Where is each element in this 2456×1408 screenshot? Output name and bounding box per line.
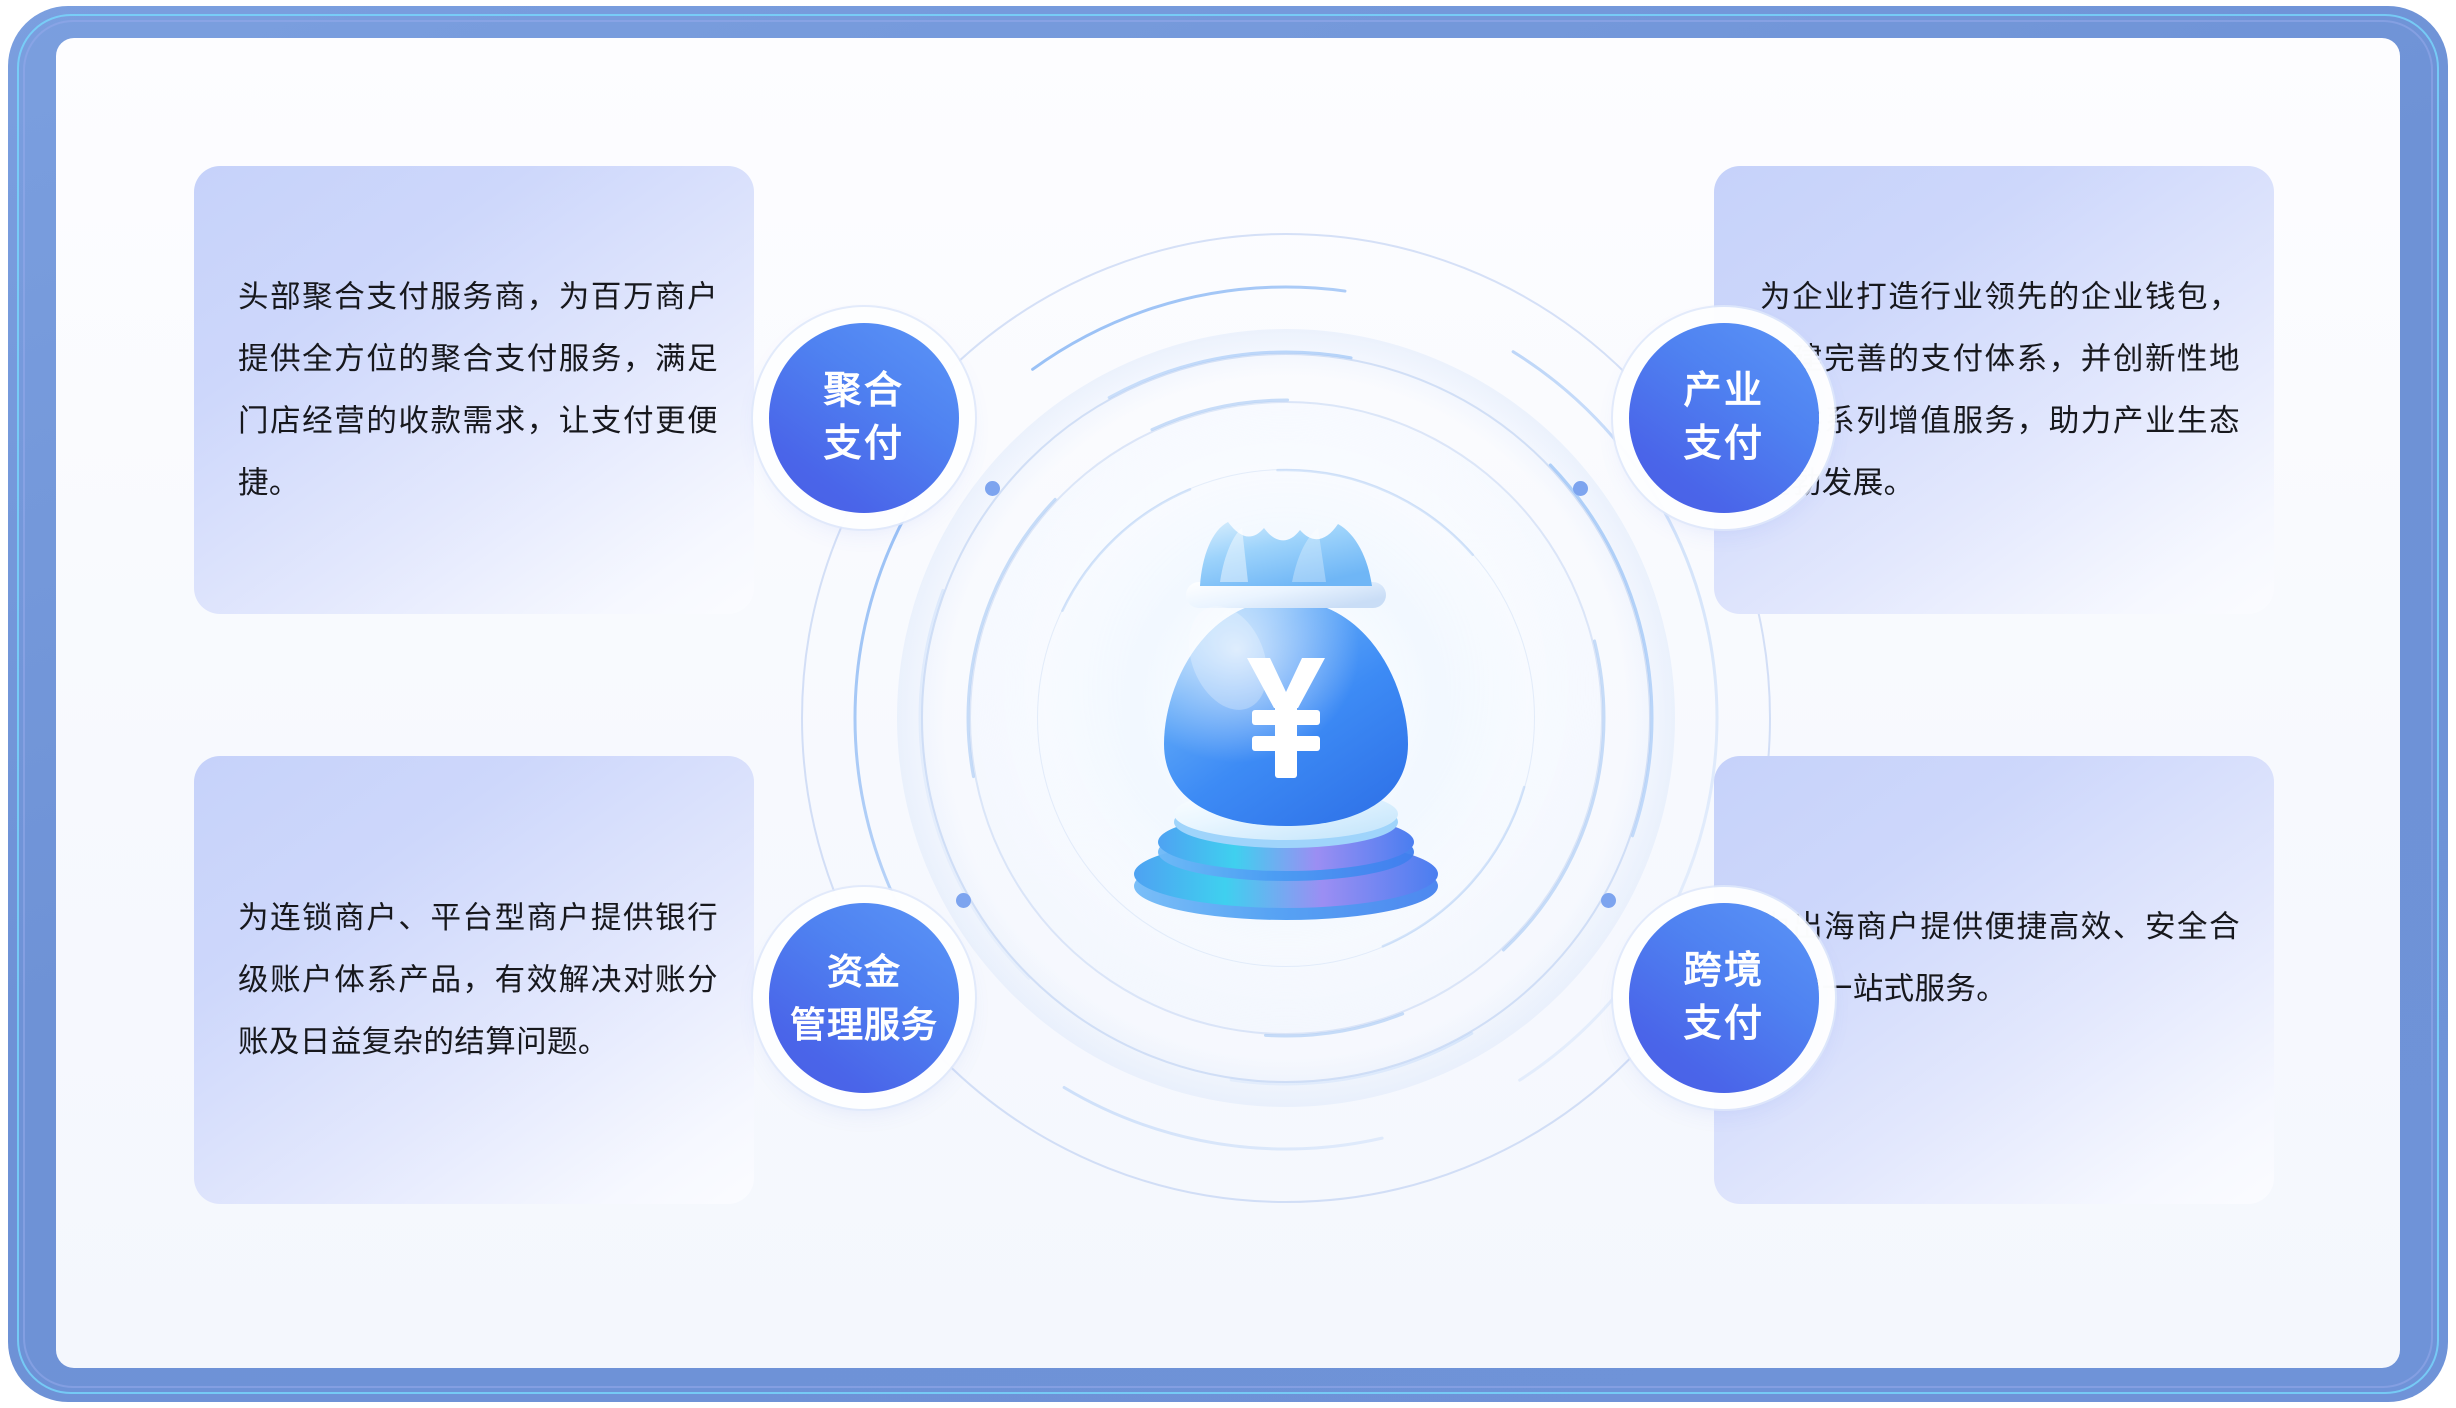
badge-line-2: 支付 [823,418,904,471]
card-text: 头部聚合支付服务商，为百万商户提供全方位的聚合支付服务，满足门店经营的收款需求，… [194,266,754,514]
ring-dot-bottom-right [1601,893,1616,908]
ring-dot-top-right [1573,481,1588,496]
badge-line-1: 产业 [1683,365,1764,418]
outer-frame: 头部聚合支付服务商，为百万商户提供全方位的聚合支付服务，满足门店经营的收款需求，… [8,6,2448,1402]
badge-line-1: 聚合 [823,365,904,418]
aggregate-payment-card: 头部聚合支付服务商，为百万商户提供全方位的聚合支付服务，满足门店经营的收款需求，… [194,166,754,614]
badge-fund-management[interactable]: 资金 管理服务 [769,903,959,1093]
content-stage: 头部聚合支付服务商，为百万商户提供全方位的聚合支付服务，满足门店经营的收款需求，… [56,38,2400,1368]
card-text: 为连锁商户、平台型商户提供银行级账户体系产品，有效解决对账分账及日益复杂的结算问… [194,887,754,1073]
badge-industry-payment[interactable]: 产业 支付 [1629,323,1819,513]
badge-line-2: 管理服务 [790,998,938,1051]
money-bag-illustration [1116,508,1456,928]
badge-aggregate-payment[interactable]: 聚合 支付 [769,323,959,513]
badge-line-1: 跨境 [1683,945,1764,998]
ring-dot-top-left [985,481,1000,496]
badge-line-1: 资金 [827,945,901,998]
badge-line-2: 支付 [1683,998,1764,1051]
ring-dot-bottom-left [956,893,971,908]
badge-cross-border-payment[interactable]: 跨境 支付 [1629,903,1819,1093]
badge-line-2: 支付 [1683,418,1764,471]
fund-management-card: 为连锁商户、平台型商户提供银行级账户体系产品，有效解决对账分账及日益复杂的结算问… [194,756,754,1204]
